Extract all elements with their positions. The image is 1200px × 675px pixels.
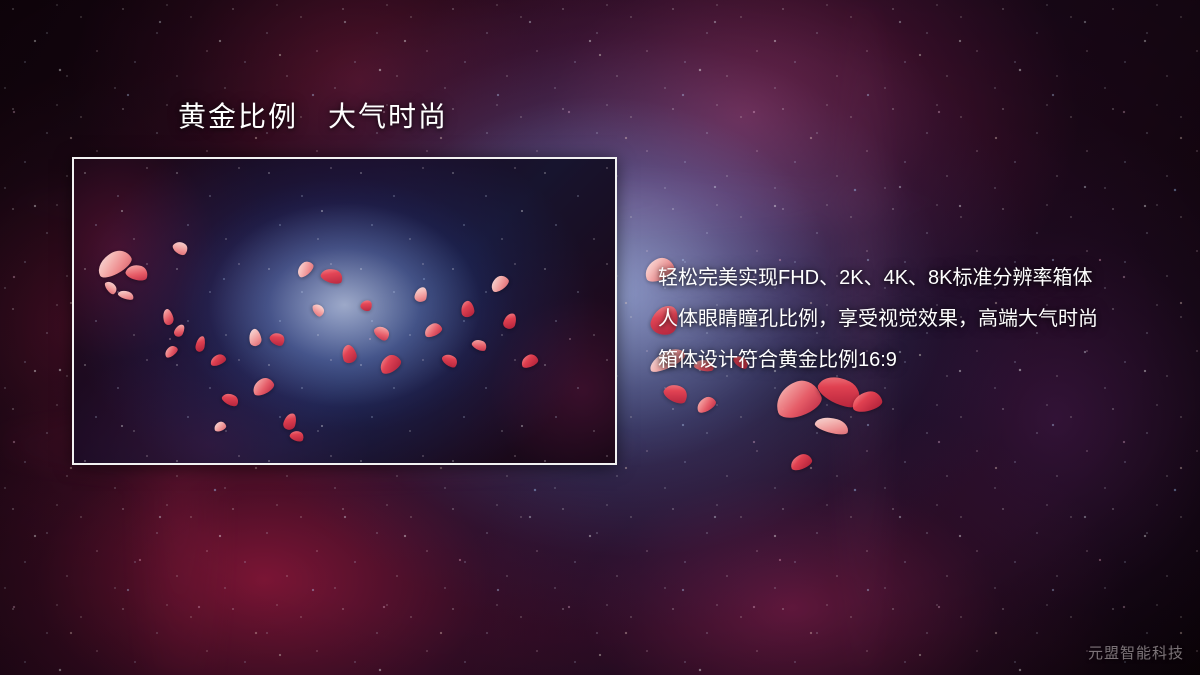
watermark-label: 元盟智能科技 xyxy=(1088,642,1184,663)
body-copy-block: 轻松完美实现FHD、2K、4K、8K标准分辨率箱体 人体眼睛瞳孔比例，享受视觉效… xyxy=(658,258,1158,381)
slide-canvas: 黄金比例 大气时尚 轻松完美实现FHD、2K、4K、8K标准分辨率箱体 人体眼睛… xyxy=(0,0,1200,675)
body-line-1: 轻松完美实现FHD、2K、4K、8K标准分辨率箱体 xyxy=(658,258,1158,299)
picture-starfield-large xyxy=(74,159,615,463)
slide-title: 黄金比例 大气时尚 xyxy=(178,101,448,132)
body-line-2: 人体眼睛瞳孔比例，享受视觉效果，高端大气时尚 xyxy=(658,299,1158,340)
picture-nebula-image xyxy=(74,159,615,463)
picture-frame xyxy=(72,157,617,465)
body-line-3: 箱体设计符合黄金比例16:9 xyxy=(658,340,1158,381)
